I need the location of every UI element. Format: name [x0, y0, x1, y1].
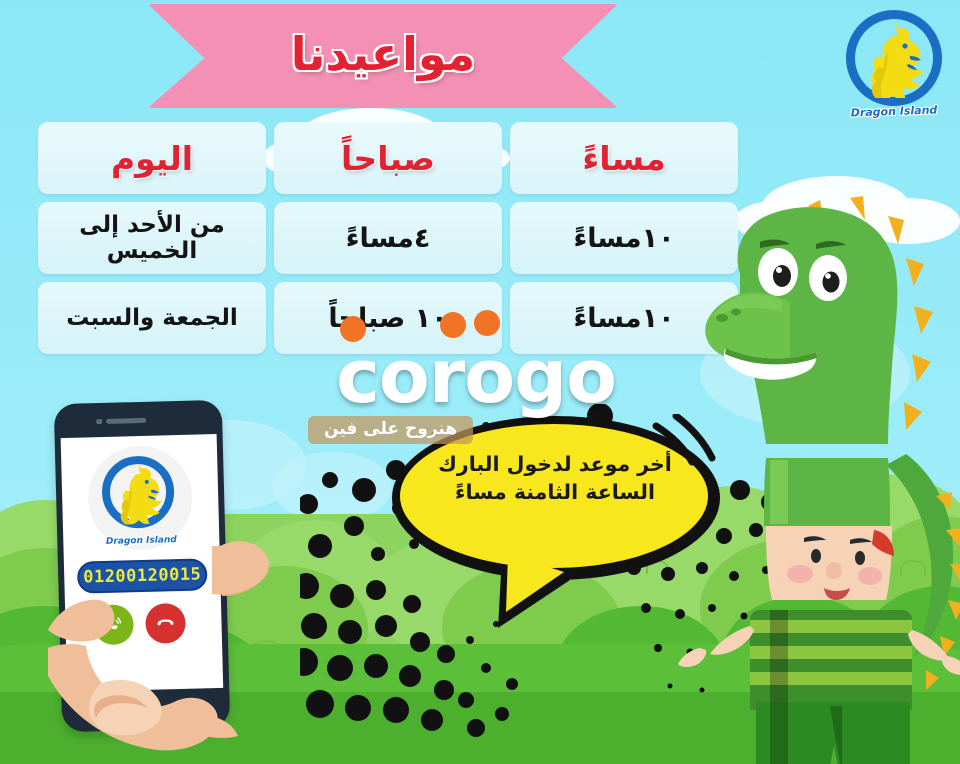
speech-bubble: أخر موعد لدخول البارك الساعة الثامنة مسا… [384, 414, 722, 634]
cell-morning-row2: ١٠ صباحاً [274, 282, 502, 354]
cell-value: الجمعة والسبت [66, 305, 237, 331]
cloud-icon [272, 452, 392, 522]
header-label: مساءً [582, 139, 665, 178]
logo-caption: Dragon Island [840, 103, 948, 120]
cell-value: ١٠ صباحاً [328, 303, 447, 334]
table-header-day: اليوم [38, 122, 266, 194]
header-label: صباحاً [341, 139, 435, 178]
speech-bubble-shape [384, 414, 722, 634]
cell-value: من الأحد إلى الخميس [44, 212, 260, 264]
cell-day-row1: من الأحد إلى الخميس [38, 202, 266, 274]
cell-morning-row1: ٤مساءً [274, 202, 502, 274]
dragon-head-icon [858, 20, 932, 98]
phone-in-hand: Dragon Island 01200120015 [48, 398, 278, 764]
cell-value: ١٠مساءً [573, 303, 674, 334]
hand-holding-phone-icon [48, 398, 278, 764]
poster-canvas: مواعيدنا Dragon Island مساءً صباحاً اليو… [0, 0, 960, 764]
header-label: اليوم [111, 139, 193, 178]
table-row: ١٠مساءً ١٠ صباحاً الجمعة والسبت [38, 282, 738, 354]
banner-ribbon: مواعيدنا [148, 4, 618, 114]
table-header-evening: مساءً [510, 122, 738, 194]
table-header-morning: صباحاً [274, 122, 502, 194]
notice-text: أخر موعد لدخول البارك الساعة الثامنة مسا… [414, 450, 696, 507]
table-row: ١٠مساءً ٤مساءً من الأحد إلى الخميس [38, 202, 738, 274]
table-header-row: مساءً صباحاً اليوم [38, 122, 738, 194]
cell-day-row2: الجمعة والسبت [38, 282, 266, 354]
schedule-table: مساءً صباحاً اليوم ١٠مساءً ٤مساءً من الأ… [38, 122, 738, 362]
notice-line-2: الساعة الثامنة مساءً [414, 478, 696, 506]
notice-line-1: أخر موعد لدخول البارك [414, 450, 696, 478]
cell-value: ٤مساءً [346, 223, 431, 254]
cell-value: ١٠مساءً [573, 223, 674, 254]
brand-logo-topright: Dragon Island [840, 6, 948, 118]
banner-title: مواعيدنا [148, 4, 618, 108]
